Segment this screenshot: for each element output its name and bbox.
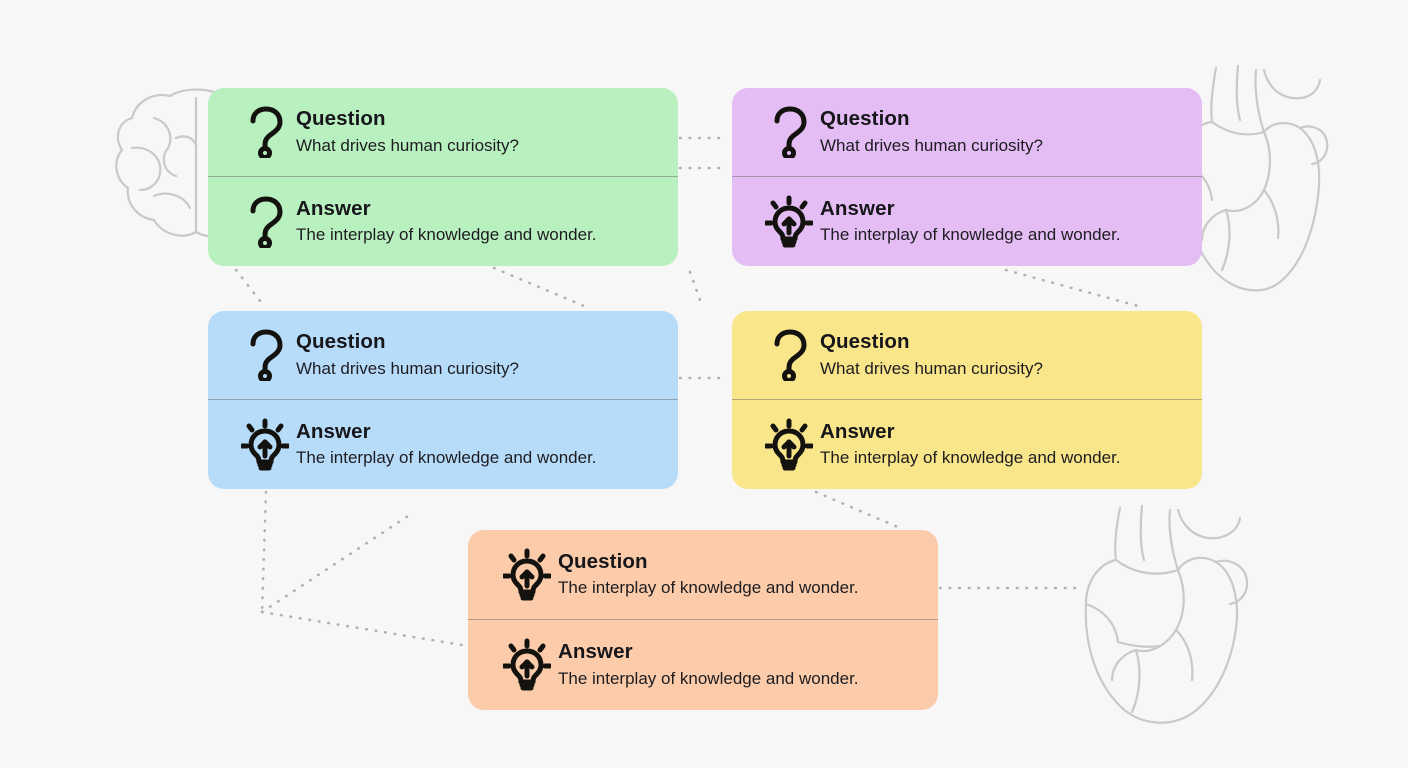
qa-title: Question [558, 550, 938, 575]
qa-text-block: Question What drives human curiosity? [820, 330, 1202, 380]
qa-card-blue[interactable]: Question What drives human curiosity? [208, 311, 678, 489]
question-mark-icon [234, 329, 296, 381]
qa-body: The interplay of knowledge and wonder. [296, 447, 678, 469]
qa-text-block: Question What drives human curiosity? [820, 107, 1202, 157]
question-mark-icon [234, 196, 296, 248]
qa-row-question[interactable]: Question What drives human curiosity? [208, 88, 678, 177]
qa-title: Question [296, 107, 678, 132]
qa-body: The interplay of knowledge and wonder. [296, 224, 678, 246]
qa-text-block: Answer The interplay of knowledge and wo… [296, 420, 678, 470]
qa-row-answer[interactable]: Answer The interplay of knowledge and wo… [468, 620, 938, 710]
qa-body: What drives human curiosity? [820, 135, 1202, 157]
qa-text-block: Answer The interplay of knowledge and wo… [296, 197, 678, 247]
lightbulb-icon [496, 548, 558, 602]
qa-row-question[interactable]: Question The interplay of knowledge and … [468, 530, 938, 620]
qa-row-question[interactable]: Question What drives human curiosity? [732, 311, 1202, 400]
question-mark-icon [234, 106, 296, 158]
qa-body: The interplay of knowledge and wonder. [558, 668, 938, 690]
qa-card-green[interactable]: Question What drives human curiosity? An… [208, 88, 678, 266]
qa-text-block: Answer The interplay of knowledge and wo… [558, 640, 938, 690]
qa-title: Question [296, 330, 678, 355]
question-mark-icon [758, 329, 820, 381]
qa-body: What drives human curiosity? [820, 358, 1202, 380]
qa-row-answer[interactable]: Answer The interplay of knowledge and wo… [732, 177, 1202, 266]
qa-row-question[interactable]: Question What drives human curiosity? [732, 88, 1202, 177]
qa-card-yellow[interactable]: Question What drives human curiosity? [732, 311, 1202, 489]
qa-title: Answer [820, 197, 1202, 222]
qa-body: What drives human curiosity? [296, 358, 678, 380]
qa-title: Answer [296, 420, 678, 445]
qa-title: Answer [296, 197, 678, 222]
qa-body: The interplay of knowledge and wonder. [820, 447, 1202, 469]
lightbulb-icon [758, 195, 820, 249]
qa-row-answer[interactable]: Answer The interplay of knowledge and wo… [208, 177, 678, 266]
qa-text-block: Question The interplay of knowledge and … [558, 550, 938, 600]
question-mark-icon [758, 106, 820, 158]
qa-row-answer[interactable]: Answer The interplay of knowledge and wo… [208, 400, 678, 489]
qa-card-orange[interactable]: Question The interplay of knowledge and … [468, 530, 938, 710]
qa-title: Answer [820, 420, 1202, 445]
qa-title: Answer [558, 640, 938, 665]
lightbulb-icon [234, 418, 296, 472]
qa-title: Question [820, 330, 1202, 355]
qa-body: The interplay of knowledge and wonder. [558, 577, 938, 599]
qa-text-block: Question What drives human curiosity? [296, 330, 678, 380]
lightbulb-icon [758, 418, 820, 472]
anatomical-heart-icon [1076, 498, 1262, 726]
qa-card-purple[interactable]: Question What drives human curiosity? [732, 88, 1202, 266]
diagram-canvas: Question What drives human curiosity? An… [0, 0, 1408, 768]
qa-body: What drives human curiosity? [296, 135, 678, 157]
lightbulb-icon [496, 638, 558, 692]
qa-text-block: Answer The interplay of knowledge and wo… [820, 197, 1202, 247]
qa-row-answer[interactable]: Answer The interplay of knowledge and wo… [732, 400, 1202, 489]
qa-row-question[interactable]: Question What drives human curiosity? [208, 311, 678, 400]
qa-title: Question [820, 107, 1202, 132]
qa-body: The interplay of knowledge and wonder. [820, 224, 1202, 246]
qa-text-block: Answer The interplay of knowledge and wo… [820, 420, 1202, 470]
qa-text-block: Question What drives human curiosity? [296, 107, 678, 157]
